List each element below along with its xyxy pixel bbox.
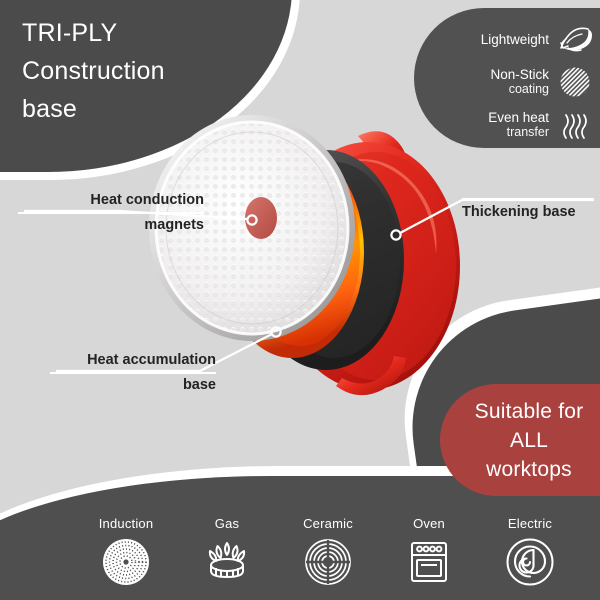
title-line-2: Construction — [22, 57, 165, 85]
cooktop-item-gas: Gas — [179, 516, 275, 592]
cooktop-item-ceramic: Ceramic — [280, 516, 376, 592]
infographic-canvas: TRI-PLY Construction base — [0, 0, 600, 600]
electric-coil-icon — [505, 537, 555, 587]
cooktop-gas-label: Gas — [179, 516, 275, 531]
callout-magnets-rule — [18, 212, 204, 214]
feature-even-heat-text: Even heat transfer — [488, 110, 549, 140]
oven-icon — [404, 537, 454, 587]
callout-magnets-line-2: magnets — [18, 215, 204, 236]
badge-line-2: ALL — [510, 426, 548, 455]
brand-logo-badge — [245, 197, 277, 239]
feather-icon — [558, 22, 592, 56]
cooktop-induction-label: Induction — [78, 516, 174, 531]
callout-thickening-rule — [462, 198, 594, 200]
cooktop-item-oven: Oven — [381, 516, 477, 592]
feature-lightweight-line-1: Lightweight — [481, 32, 549, 47]
feature-item-non-stick: Non-Stick coating — [440, 65, 592, 99]
heat-waves-icon — [558, 108, 592, 142]
cooktop-oven-label: Oven — [381, 516, 477, 531]
callout-accumulation-line-2: base — [50, 375, 216, 396]
cooktop-ceramic-label: Ceramic — [280, 516, 376, 531]
cooktop-compatibility-list: Induction Gas — [78, 516, 578, 592]
feature-item-lightweight: Lightweight — [440, 22, 592, 56]
ceramic-rings-icon — [303, 537, 353, 587]
gas-burner-icon — [202, 537, 252, 587]
feature-non-stick-text: Non-Stick coating — [490, 67, 549, 97]
callout-thickening-line-1: Thickening base — [462, 202, 594, 223]
cooktop-item-induction: Induction — [78, 516, 174, 592]
callout-accumulation-line-1: Heat accumulation — [50, 350, 216, 371]
cooktop-electric-label: Electric — [482, 516, 578, 531]
feature-even-heat-line-2: transfer — [488, 125, 549, 140]
badge-line-3: worktops — [486, 455, 572, 484]
callout-magnets-line-1: Heat conduction — [18, 190, 204, 211]
suitable-for-all-worktops-badge: Suitable for ALL worktops — [440, 384, 600, 496]
feature-non-stick-line-1: Non-Stick — [490, 67, 549, 82]
feature-item-even-heat: Even heat transfer — [440, 108, 592, 142]
induction-coil-icon — [101, 537, 151, 587]
feature-list: Lightweight Non-Stick coating — [440, 22, 592, 151]
cooktop-item-electric: Electric — [482, 516, 578, 592]
callout-thickening-base: Thickening base — [462, 198, 594, 223]
feature-lightweight-text: Lightweight — [481, 32, 549, 47]
title-line-3: base — [22, 95, 77, 123]
hatched-circle-icon — [558, 65, 592, 99]
callout-heat-accumulation-base: Heat accumulation base — [50, 350, 216, 396]
feature-even-heat-line-1: Even heat — [488, 110, 549, 125]
callout-heat-conduction-magnets: Heat conduction magnets — [18, 190, 204, 236]
badge-line-1: Suitable for — [475, 397, 584, 426]
feature-non-stick-line-2: coating — [490, 82, 549, 97]
callout-accumulation-rule — [50, 372, 216, 374]
title-line-1: TRI-PLY — [22, 19, 117, 47]
